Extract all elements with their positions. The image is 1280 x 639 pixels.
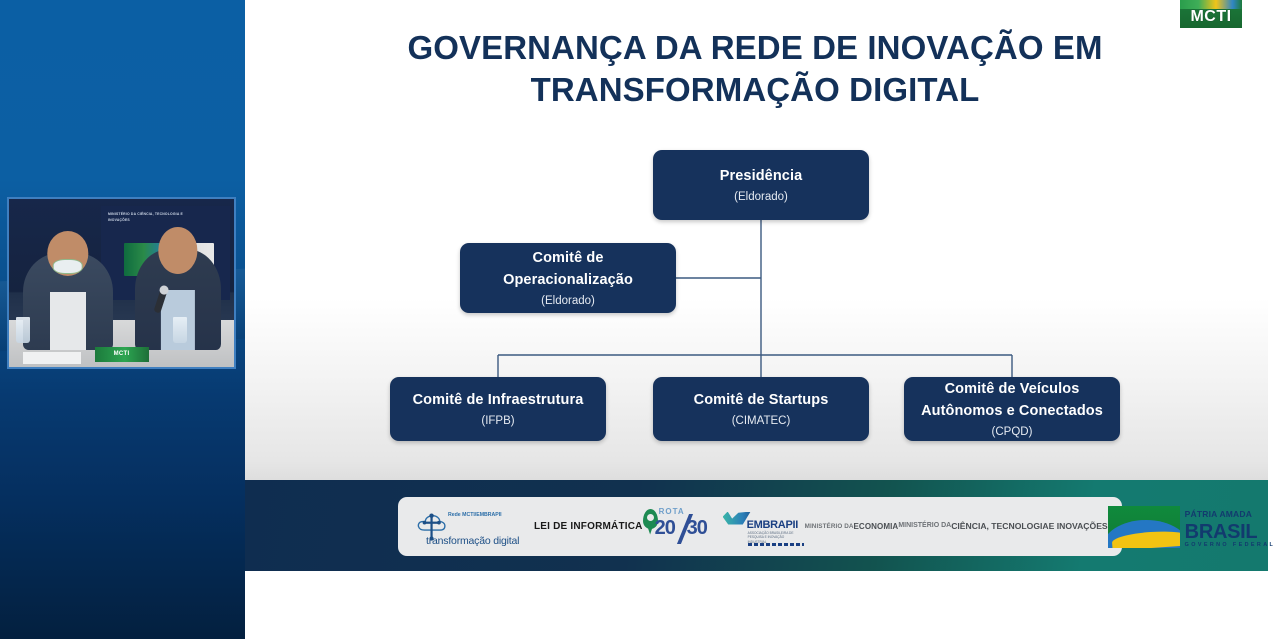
bottom-white-area [245,571,1268,639]
logo-mcti-line1: MINISTÉRIO DA [898,521,951,531]
logo-embrapii-label: EMBRAPII [747,519,798,531]
logo-ministerio-ciencia-tecnologia-inovacoes: MINISTÉRIO DA CIÊNCIA, TECNOLOGIA E INOV… [898,520,1107,532]
person-left-shirt [50,292,86,350]
logo-mcti-line3: E INOVAÇÕES [1049,520,1108,532]
org-chart: Presidência (Eldorado) Comitê de Operaci… [245,0,1268,480]
org-node-veiculos-title-line1: Comitê de Veículos [945,378,1080,400]
desk-mcti-logo: MCTI [95,347,149,362]
logo-mcti-line2: CIÊNCIA, TECNOLOGIA [951,520,1048,532]
org-node-operacionalizacao-sub: (Eldorado) [541,293,595,309]
slide-footer-band: Rede MCTI/EMBRAPII transformação digital… [245,480,1268,571]
logo-patria-amada-brasil: PÁTRIA AMADA BRASIL GOVERNO FEDERAL [1108,505,1276,548]
logo-pab-line2: BRASIL [1185,522,1276,542]
video-feed-person-left [23,253,113,350]
person-left-face-mask [52,259,83,275]
logo-rota-number-left: 20 [655,517,675,540]
logo-economia-line1: MINISTÉRIO DA [805,522,854,531]
org-node-veiculos-title-line2: Autônomos e Conectados [921,400,1103,422]
org-node-presidencia-sub: (Eldorado) [734,189,788,205]
org-node-operacionalizacao-title-line1: Comitê de [533,247,604,269]
org-node-startups-title: Comitê de Startups [694,389,829,411]
logo-embrapii: EMBRAPII ASSOCIAÇÃO BRASILEIRA DE PESQUI… [723,506,805,548]
logo-rota-word: ROTA [659,507,685,516]
org-node-presidencia[interactable]: Presidência (Eldorado) [653,150,869,220]
org-node-infraestrutura-sub: (IFPB) [481,413,514,429]
desk-papers [23,352,82,364]
org-node-operacionalizacao-title-line2: Operacionalização [503,269,633,291]
logo-pab-line3: GOVERNO FEDERAL [1185,543,1276,548]
logo-embrapii-rule [748,543,804,546]
org-node-comite-startups[interactable]: Comitê de Startups (CIMATEC) [653,377,869,441]
org-node-comite-operacionalizacao[interactable]: Comitê de Operacionalização (Eldorado) [460,243,676,313]
right-white-margin [1275,0,1280,639]
water-glass-left [16,317,30,343]
logo-pab-line1: PÁTRIA AMADA [1185,509,1252,519]
logo-economia-line2: ECONOMIA [854,521,899,533]
logo-rede-td-line1: Rede MCTI/EMBRAPII [448,512,502,520]
logo-rede-td-word: transformação digital [426,535,519,547]
logo-rota-2030: ROTA 20 30 [643,506,723,548]
logo-lei-de-informatica: LEI DE INFORMÁTICA [534,521,643,532]
logo-rota-number-right: 30 [687,517,707,540]
patria-amada-brasil-text: PÁTRIA AMADA BRASIL GOVERNO FEDERAL [1185,505,1276,548]
logo-rede-transformacao-digital: Rede MCTI/EMBRAPII transformação digital [416,506,534,548]
screen-root: MINISTÉRIO DA CIÊNCIA, TECNOLOGIA E INOV… [0,0,1280,639]
right-green-edge-strip [1268,0,1275,639]
person-right-head [158,227,197,273]
partner-logo-bar: Rede MCTI/EMBRAPII transformação digital… [398,497,1122,556]
org-node-veiculos-sub: (CPQD) [992,424,1033,440]
logo-ministerio-da-economia: MINISTÉRIO DA ECONOMIA [805,521,899,533]
org-node-comite-veiculos-autonomos[interactable]: Comitê de Veículos Autônomos e Conectado… [904,377,1120,441]
org-node-infraestrutura-title: Comitê de Infraestrutura [413,389,584,411]
org-node-presidencia-title: Presidência [720,165,803,187]
brasil-flag-icon [1108,506,1180,548]
video-feed-thumbnail[interactable]: MINISTÉRIO DA CIÊNCIA, TECNOLOGIA E INOV… [7,197,236,369]
org-node-comite-infraestrutura[interactable]: Comitê de Infraestrutura (IFPB) [390,377,606,441]
water-glass-right [173,317,187,343]
video-feed-backdrop-text: MINISTÉRIO DA CIÊNCIA, TECNOLOGIA E INOV… [108,212,198,222]
slide-surface: MCTI GOVERNANÇA DA REDE DE INOVAÇÃO EM T… [245,0,1268,480]
org-node-startups-sub: (CIMATEC) [732,413,791,429]
